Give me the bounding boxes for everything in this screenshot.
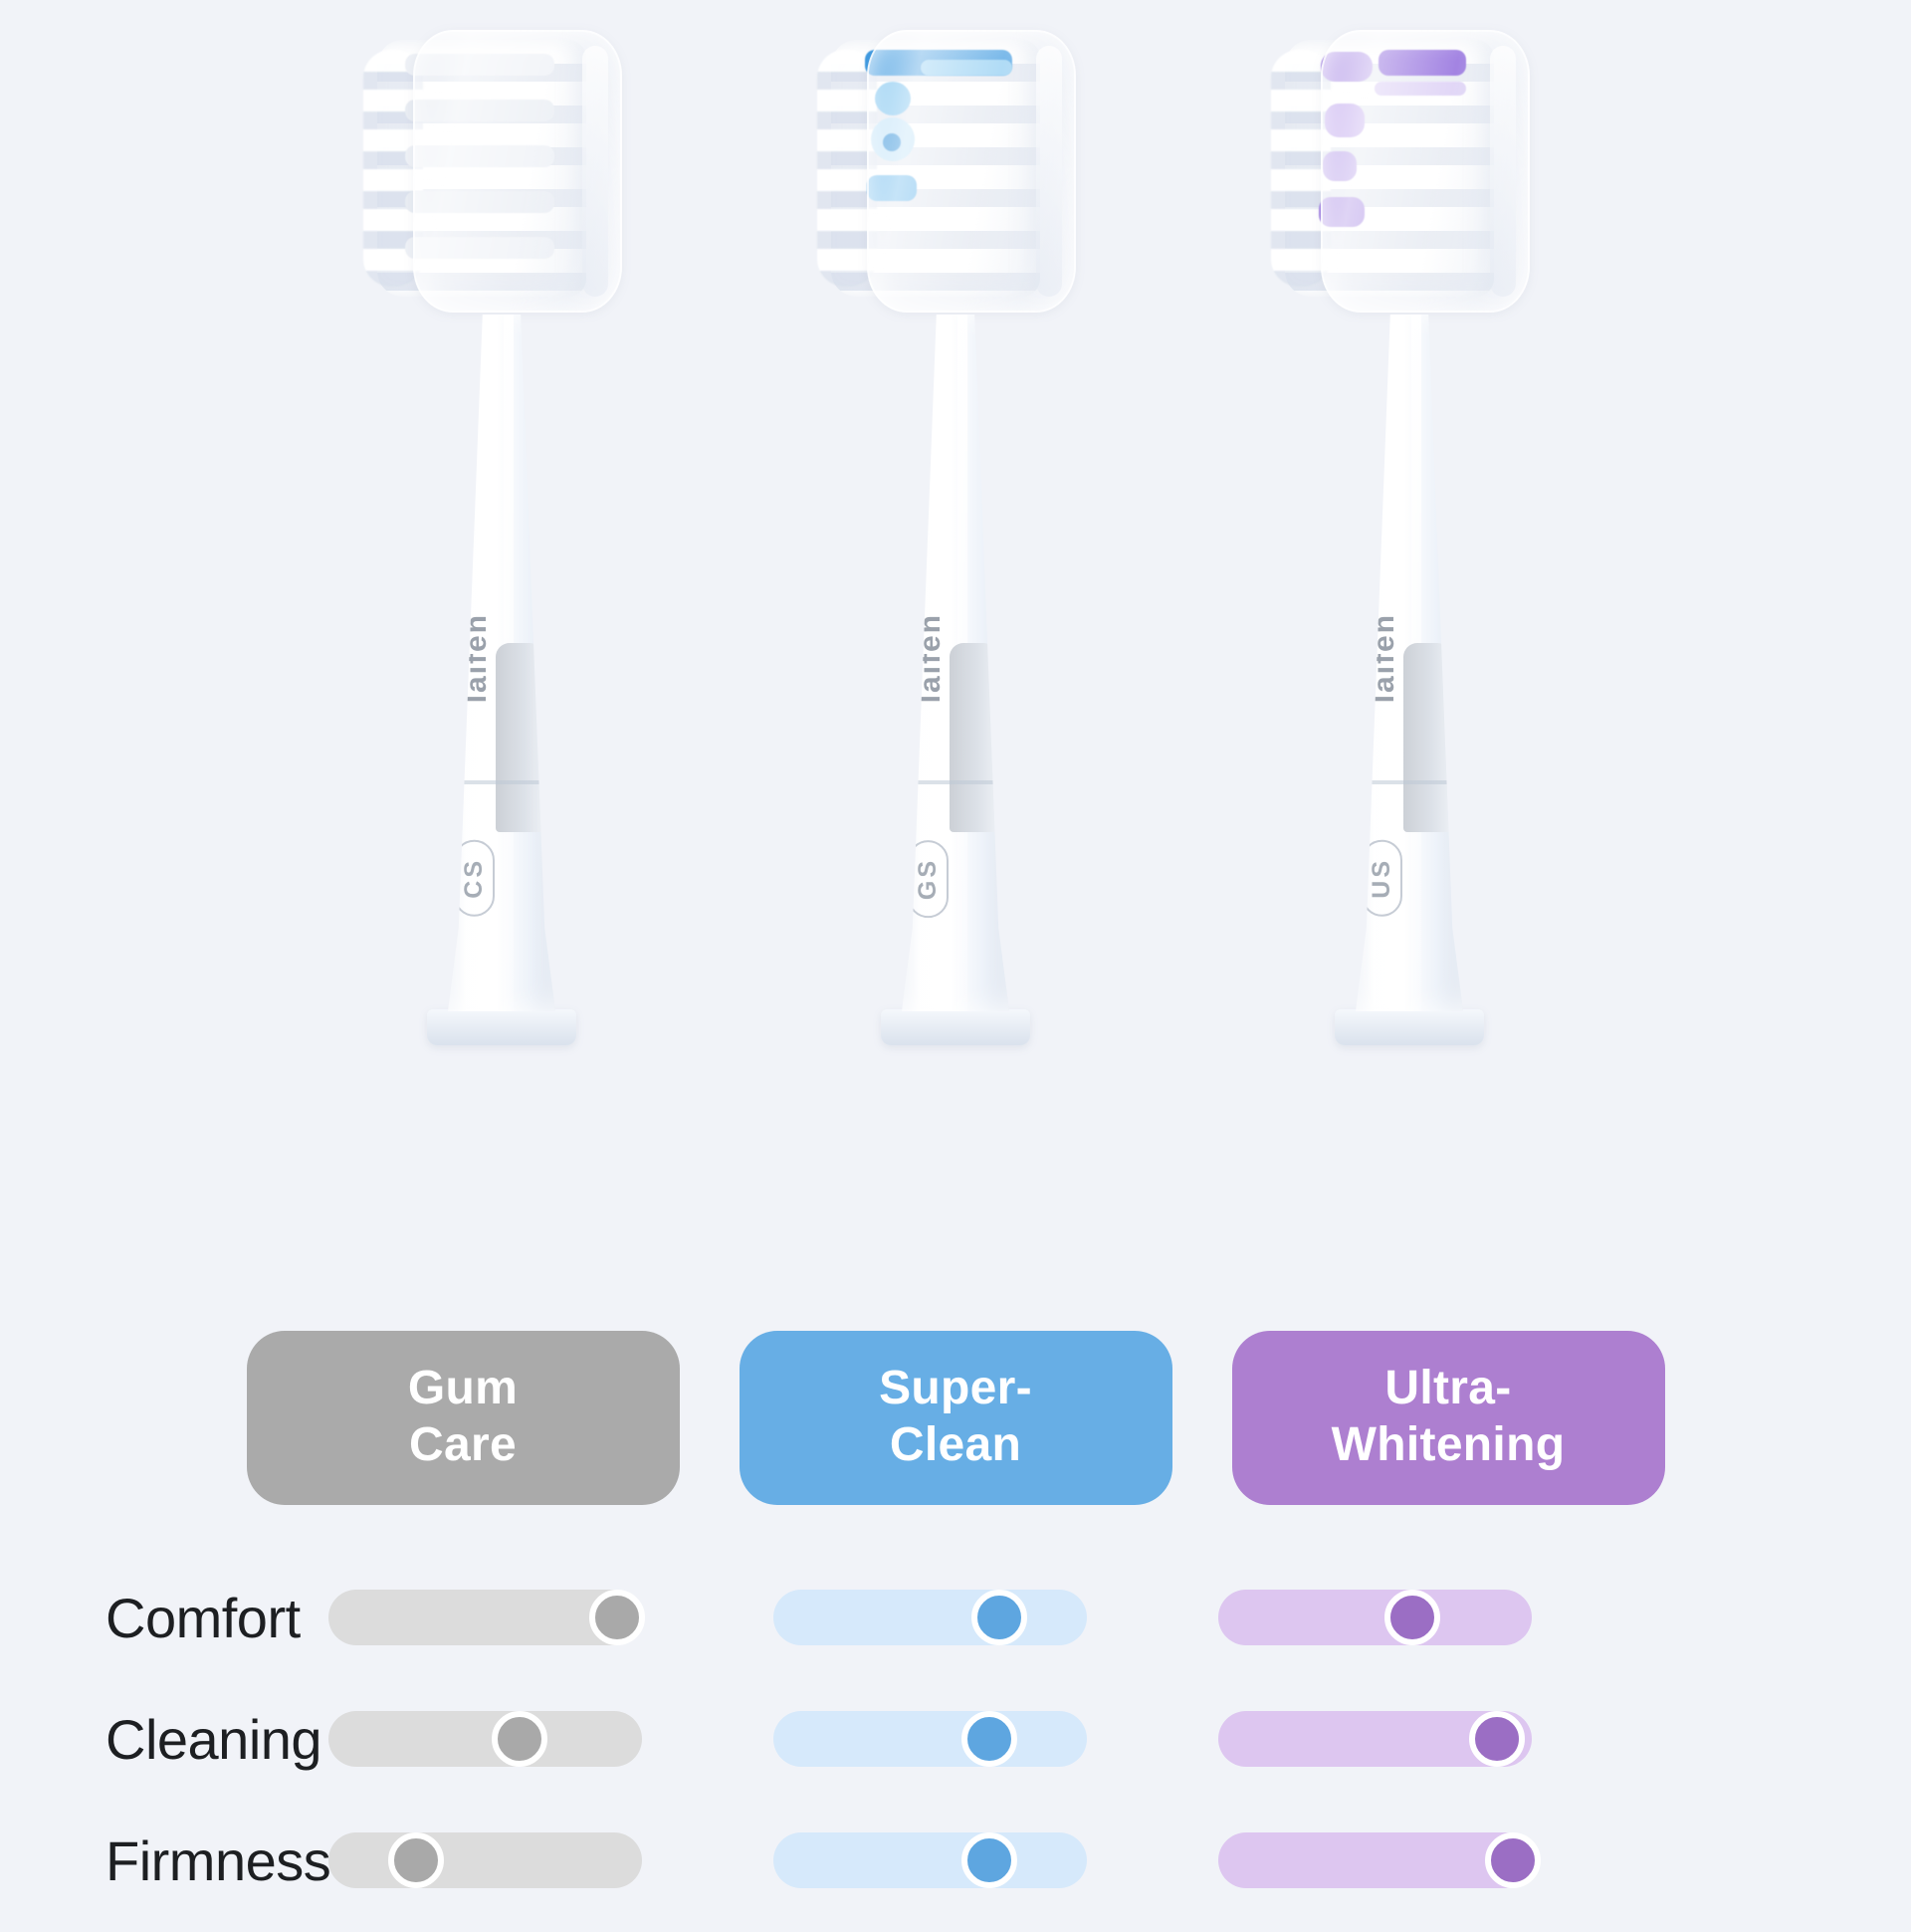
handle-insert [950,643,997,832]
brush-head-bristles-gum-care [377,22,626,321]
slider-knob[interactable] [492,1711,547,1767]
handle-insert [1403,643,1451,832]
product-label-row: GumCare Super-Clean Ultra-Whitening [0,1323,1911,1512]
handle-seam [904,780,1007,784]
product-pill-gum-care[interactable]: GumCare [247,1331,680,1505]
slider-knob[interactable] [388,1832,444,1888]
slider-cleaning-super-clean[interactable] [773,1711,1087,1767]
attribute-label-comfort: Comfort [0,1586,328,1650]
brand-logo: laifen [460,613,494,703]
brush-head-gallery: laifen CS lai [0,0,1911,1294]
pill-line-2: Whitening [1332,1418,1566,1471]
slider-knob[interactable] [971,1590,1027,1645]
attribute-row-firmness: Firmness [0,1811,1911,1910]
pill-line-1: Super- [879,1362,1032,1414]
slider-cleaning-ultra-whitening[interactable] [1218,1711,1532,1767]
transparent-cap-icon [413,30,622,313]
brush-head-super-clean[interactable]: laifen GS [801,0,1110,1284]
slider-knob[interactable] [1384,1590,1440,1645]
pill-line-1: Ultra- [1384,1362,1511,1414]
pill-line-2: Care [409,1418,517,1471]
model-badge-gs: GS [908,840,949,918]
attribute-row-comfort: Comfort [0,1568,1911,1667]
transparent-cap-icon [867,30,1076,313]
attribute-label-firmness: Firmness [0,1828,328,1893]
attribute-row-cleaning: Cleaning [0,1689,1911,1789]
slider-knob[interactable] [1485,1832,1541,1888]
brush-head-bristles-super-clean [831,22,1080,321]
product-comparison-page: laifen CS lai [0,0,1911,1911]
handle-base [881,1009,1030,1045]
product-pill-ultra-whitening[interactable]: Ultra-Whitening [1232,1331,1665,1505]
brand-logo: laifen [914,613,948,703]
slider-comfort-gum-care[interactable] [328,1590,642,1645]
slider-knob[interactable] [961,1832,1017,1888]
slider-knob[interactable] [589,1590,645,1645]
slider-cleaning-gum-care[interactable] [328,1711,642,1767]
slider-knob[interactable] [961,1711,1017,1767]
brand-logo: laifen [1368,613,1401,703]
handle-seam [1358,780,1461,784]
brush-handle-ultra-whitening: laifen US [1350,315,1469,1011]
attribute-label-cleaning: Cleaning [0,1707,328,1772]
handle-base [427,1009,576,1045]
pill-line-1: Gum [408,1362,518,1414]
model-badge-cs: CS [454,840,495,917]
attribute-slider-table: Comfort Cleaning [0,1568,1911,1932]
brush-handle-gum-care: laifen CS [442,315,561,1011]
slider-comfort-super-clean[interactable] [773,1590,1087,1645]
brush-head-ultra-whitening[interactable]: laifen US [1255,0,1564,1284]
slider-firmness-gum-care[interactable] [328,1832,642,1888]
brush-handle-super-clean: laifen GS [896,315,1015,1011]
brush-head-gum-care[interactable]: laifen CS [347,0,656,1284]
slider-comfort-ultra-whitening[interactable] [1218,1590,1532,1645]
slider-knob[interactable] [1469,1711,1525,1767]
brush-head-bristles-ultra-whitening [1285,22,1534,321]
handle-seam [450,780,553,784]
pill-line-2: Clean [890,1418,1021,1471]
transparent-cap-icon [1321,30,1530,313]
handle-base [1335,1009,1484,1045]
product-pill-super-clean[interactable]: Super-Clean [740,1331,1172,1505]
slider-firmness-super-clean[interactable] [773,1832,1087,1888]
model-badge-us: US [1362,840,1402,917]
handle-insert [496,643,543,832]
slider-firmness-ultra-whitening[interactable] [1218,1832,1532,1888]
